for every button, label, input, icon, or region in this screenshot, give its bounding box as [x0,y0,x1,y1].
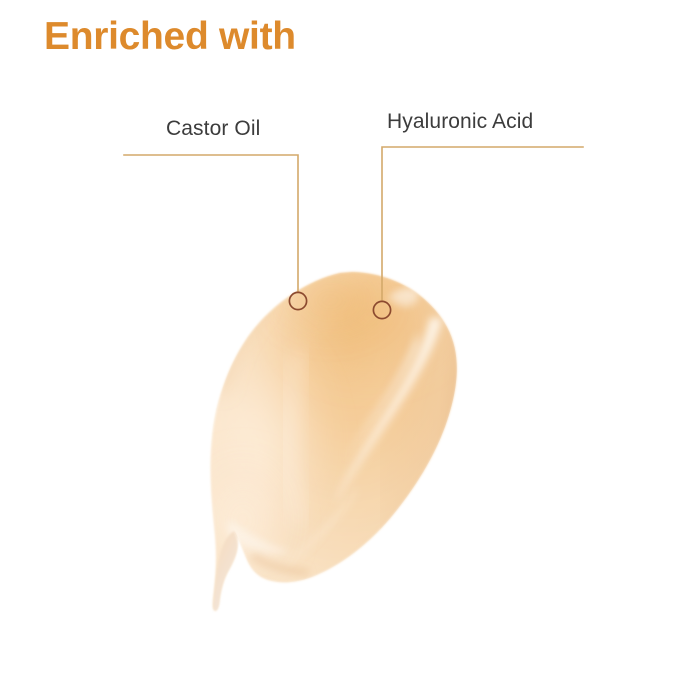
cream-blob-body [183,256,470,620]
page-title: Enriched with [44,14,296,61]
callout-label-castor-oil: Castor Oil [166,118,260,139]
callout-label-hyaluronic-acid: Hyaluronic Acid [387,111,533,132]
cream-swatch [0,0,679,679]
enriched-with-infographic: Enriched with Castor Oil Hyaluronic Acid [0,0,679,679]
